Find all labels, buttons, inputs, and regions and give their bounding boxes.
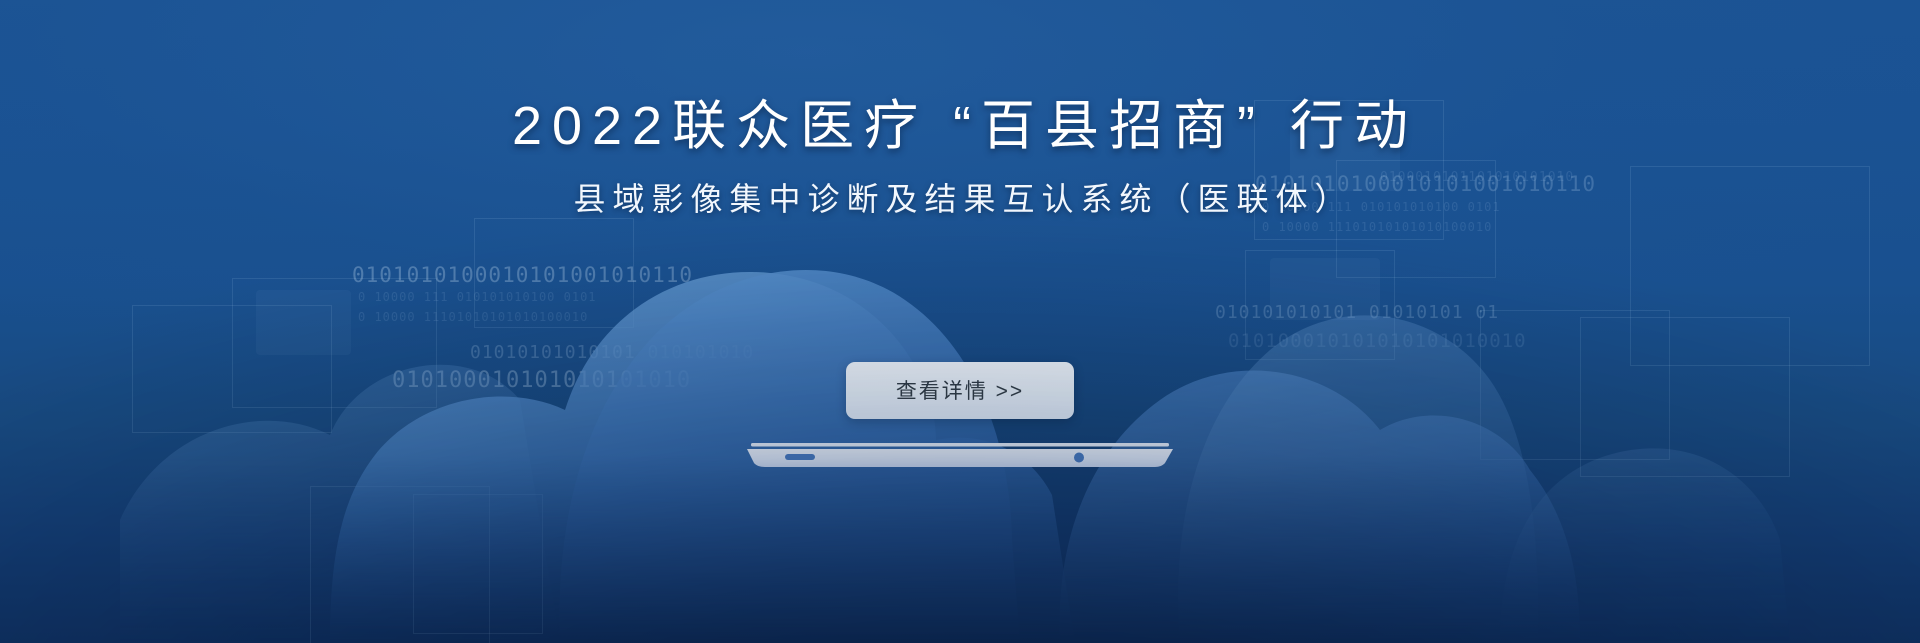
- laptop-indicator-bar: [785, 454, 815, 460]
- laptop-camera-dot: [1074, 453, 1084, 463]
- banner-subline: 县域影像集中诊断及结果互认系统（医联体）: [0, 179, 1920, 219]
- cta-container: 查看详情 >>: [0, 362, 1920, 419]
- banner-headline: 2022联众医疗 “百县招商” 行动: [0, 95, 1920, 157]
- view-details-button[interactable]: 查看详情 >>: [846, 362, 1074, 419]
- laptop-screen-edge: [751, 443, 1169, 447]
- laptop-base-svg: [747, 443, 1173, 469]
- promo-banner: 0101010100010101001010110 0 10000 111 01…: [0, 0, 1920, 643]
- laptop-base-graphic: [747, 443, 1173, 469]
- headline-block: 2022联众医疗 “百县招商” 行动 县域影像集中诊断及结果互认系统（医联体）: [0, 95, 1920, 219]
